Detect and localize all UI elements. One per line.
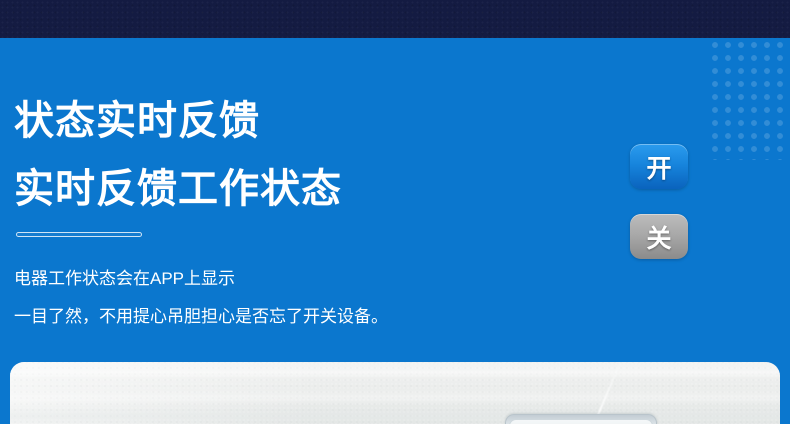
toggle-off-button[interactable]: 关 (630, 214, 688, 259)
feature-description-line-1: 电器工作状态会在APP上显示 (14, 268, 235, 290)
toggle-on-button[interactable]: 开 (630, 144, 688, 189)
feature-description-line-2: 一目了然，不用提心吊胆担心是否忘了开关设备。 (14, 306, 388, 328)
toggle-on-label: 开 (646, 149, 671, 185)
page-root: 状态实时反馈 实时反馈工作状态 电器工作状态会在APP上显示 一目了然，不用提心… (0, 0, 790, 424)
photo-device-face (509, 419, 653, 424)
photo-wall-streaks (10, 362, 780, 424)
page-title: 状态实时反馈 (14, 98, 260, 144)
top-navy-band (0, 0, 790, 38)
page-subtitle: 实时反馈工作状态 (14, 166, 342, 212)
product-photo-panel (10, 362, 780, 424)
divider-pill (16, 232, 142, 237)
toggle-off-label: 关 (646, 219, 671, 255)
decorative-dot-grid (712, 42, 790, 160)
hero-section: 状态实时反馈 实时反馈工作状态 电器工作状态会在APP上显示 一目了然，不用提心… (0, 38, 790, 362)
